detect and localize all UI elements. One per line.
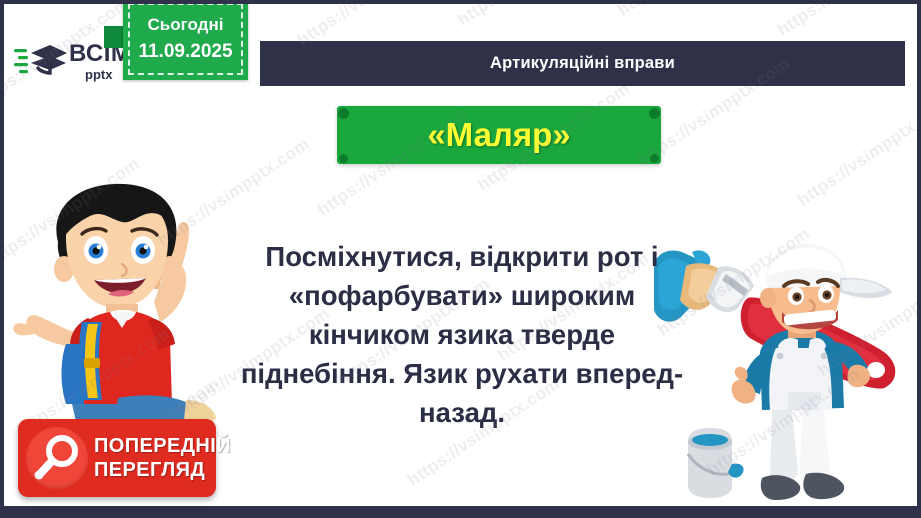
banner-corner-dot-bottom-left — [339, 154, 348, 163]
exercise-description: Посміхнутися, відкрити рот і «пофарбуват… — [236, 237, 688, 432]
graduation-cap-icon — [14, 39, 68, 83]
magnifier-icon — [26, 427, 88, 489]
preview-button[interactable]: ПОПЕРЕДНІЙ ПЕРЕГЛЯД — [18, 419, 216, 497]
date-badge-date: 11.09.2025 — [123, 41, 248, 63]
watermark: https://vsimpptx.com — [794, 94, 917, 211]
section-title-banner: «Маляр» — [337, 106, 661, 164]
preview-button-line1: ПОПЕРЕДНІЙ — [94, 436, 231, 456]
banner-corner-dot-top-left — [338, 108, 349, 119]
banner-corner-dot-top-right — [649, 108, 660, 119]
slide-root: ВСІМ pptx Сьогодні 11.09.2025 Артикуляці… — [0, 0, 921, 518]
watermark: https://vsimpptx.com — [774, 4, 917, 41]
watermark: https://vsimpptx.com — [614, 4, 774, 21]
boy-illustration — [10, 172, 225, 437]
date-badge-label: Сьогодні — [123, 15, 248, 35]
preview-button-line2: ПЕРЕГЛЯД — [94, 460, 231, 480]
painter-illustration — [652, 242, 917, 506]
banner-corner-dot-bottom-right — [650, 154, 659, 163]
header-bar: Артикуляційні вправи — [260, 41, 905, 86]
header-title: Артикуляційні вправи — [490, 54, 675, 73]
watermark: https://vsimpptx.com — [454, 4, 614, 31]
slide-canvas: ВСІМ pptx Сьогодні 11.09.2025 Артикуляці… — [4, 4, 917, 506]
banner-title: «Маляр» — [427, 116, 570, 154]
date-badge: Сьогодні 11.09.2025 — [123, 4, 248, 80]
